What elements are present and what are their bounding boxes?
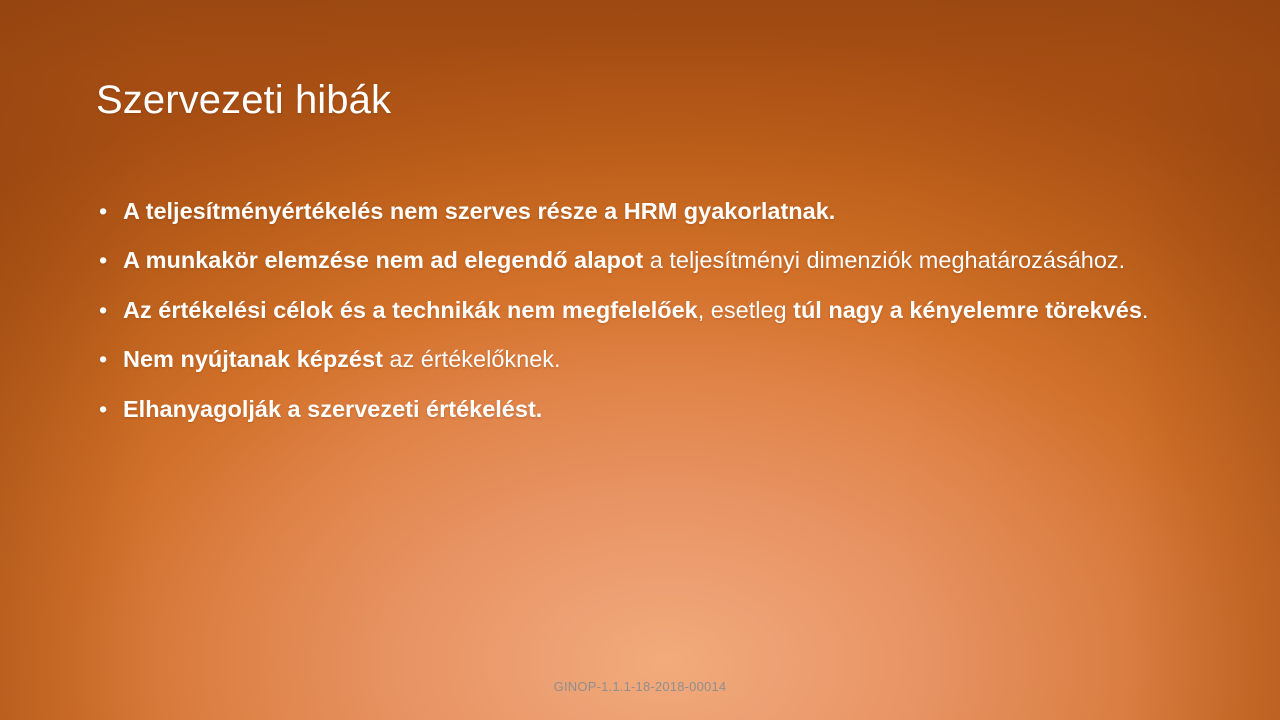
footer-project-code: GINOP-1.1.1-18-2018-00014 [0, 679, 1280, 694]
bullet-marker-icon: • [99, 196, 107, 227]
bullet-marker-icon: • [99, 344, 107, 375]
slide-content: Szervezeti hibák •A teljesítményértékelé… [0, 0, 1280, 720]
text-run-regular: . [1142, 297, 1149, 323]
list-item: •Az értékelési célok és a technikák nem … [96, 295, 1186, 326]
list-item: •Elhanyagolják a szervezeti értékelést. [96, 394, 1186, 425]
text-run-bold: Elhanyagolják a szervezeti értékelést. [123, 396, 542, 422]
text-run-regular: , esetleg [698, 297, 793, 323]
presentation-slide: Szervezeti hibák •A teljesítményértékelé… [0, 0, 1280, 720]
bullet-marker-icon: • [99, 245, 107, 276]
text-run-bold: Nem nyújtanak képzést [123, 346, 383, 372]
list-item: •A munkakör elemzése nem ad elegendő ala… [96, 245, 1186, 276]
list-item-text: A munkakör elemzése nem ad elegendő alap… [123, 247, 1125, 273]
text-run-bold: túl nagy a kényelemre törekvés [793, 297, 1142, 323]
list-item: •Nem nyújtanak képzést az értékelőknek. [96, 344, 1186, 375]
text-run-bold: A teljesítményértékelés nem szerves rész… [123, 198, 835, 224]
text-run-regular: az értékelőknek. [383, 346, 561, 372]
text-run-regular: a teljesítményi dimenziók meghatározásáh… [643, 247, 1125, 273]
bullet-marker-icon: • [99, 295, 107, 326]
bullet-list: •A teljesítményértékelés nem szerves rés… [96, 196, 1186, 425]
text-run-bold: A munkakör elemzése nem ad elegendő alap… [123, 247, 643, 273]
list-item: •A teljesítményértékelés nem szerves rés… [96, 196, 1186, 227]
list-item-text: Nem nyújtanak képzést az értékelőknek. [123, 346, 561, 372]
slide-title: Szervezeti hibák [96, 78, 1186, 124]
list-item-text: Elhanyagolják a szervezeti értékelést. [123, 396, 542, 422]
list-item-text: A teljesítményértékelés nem szerves rész… [123, 198, 835, 224]
bullet-marker-icon: • [99, 394, 107, 425]
list-item-text: Az értékelési célok és a technikák nem m… [123, 297, 1148, 323]
text-run-bold: Az értékelési célok és a technikák nem m… [123, 297, 698, 323]
